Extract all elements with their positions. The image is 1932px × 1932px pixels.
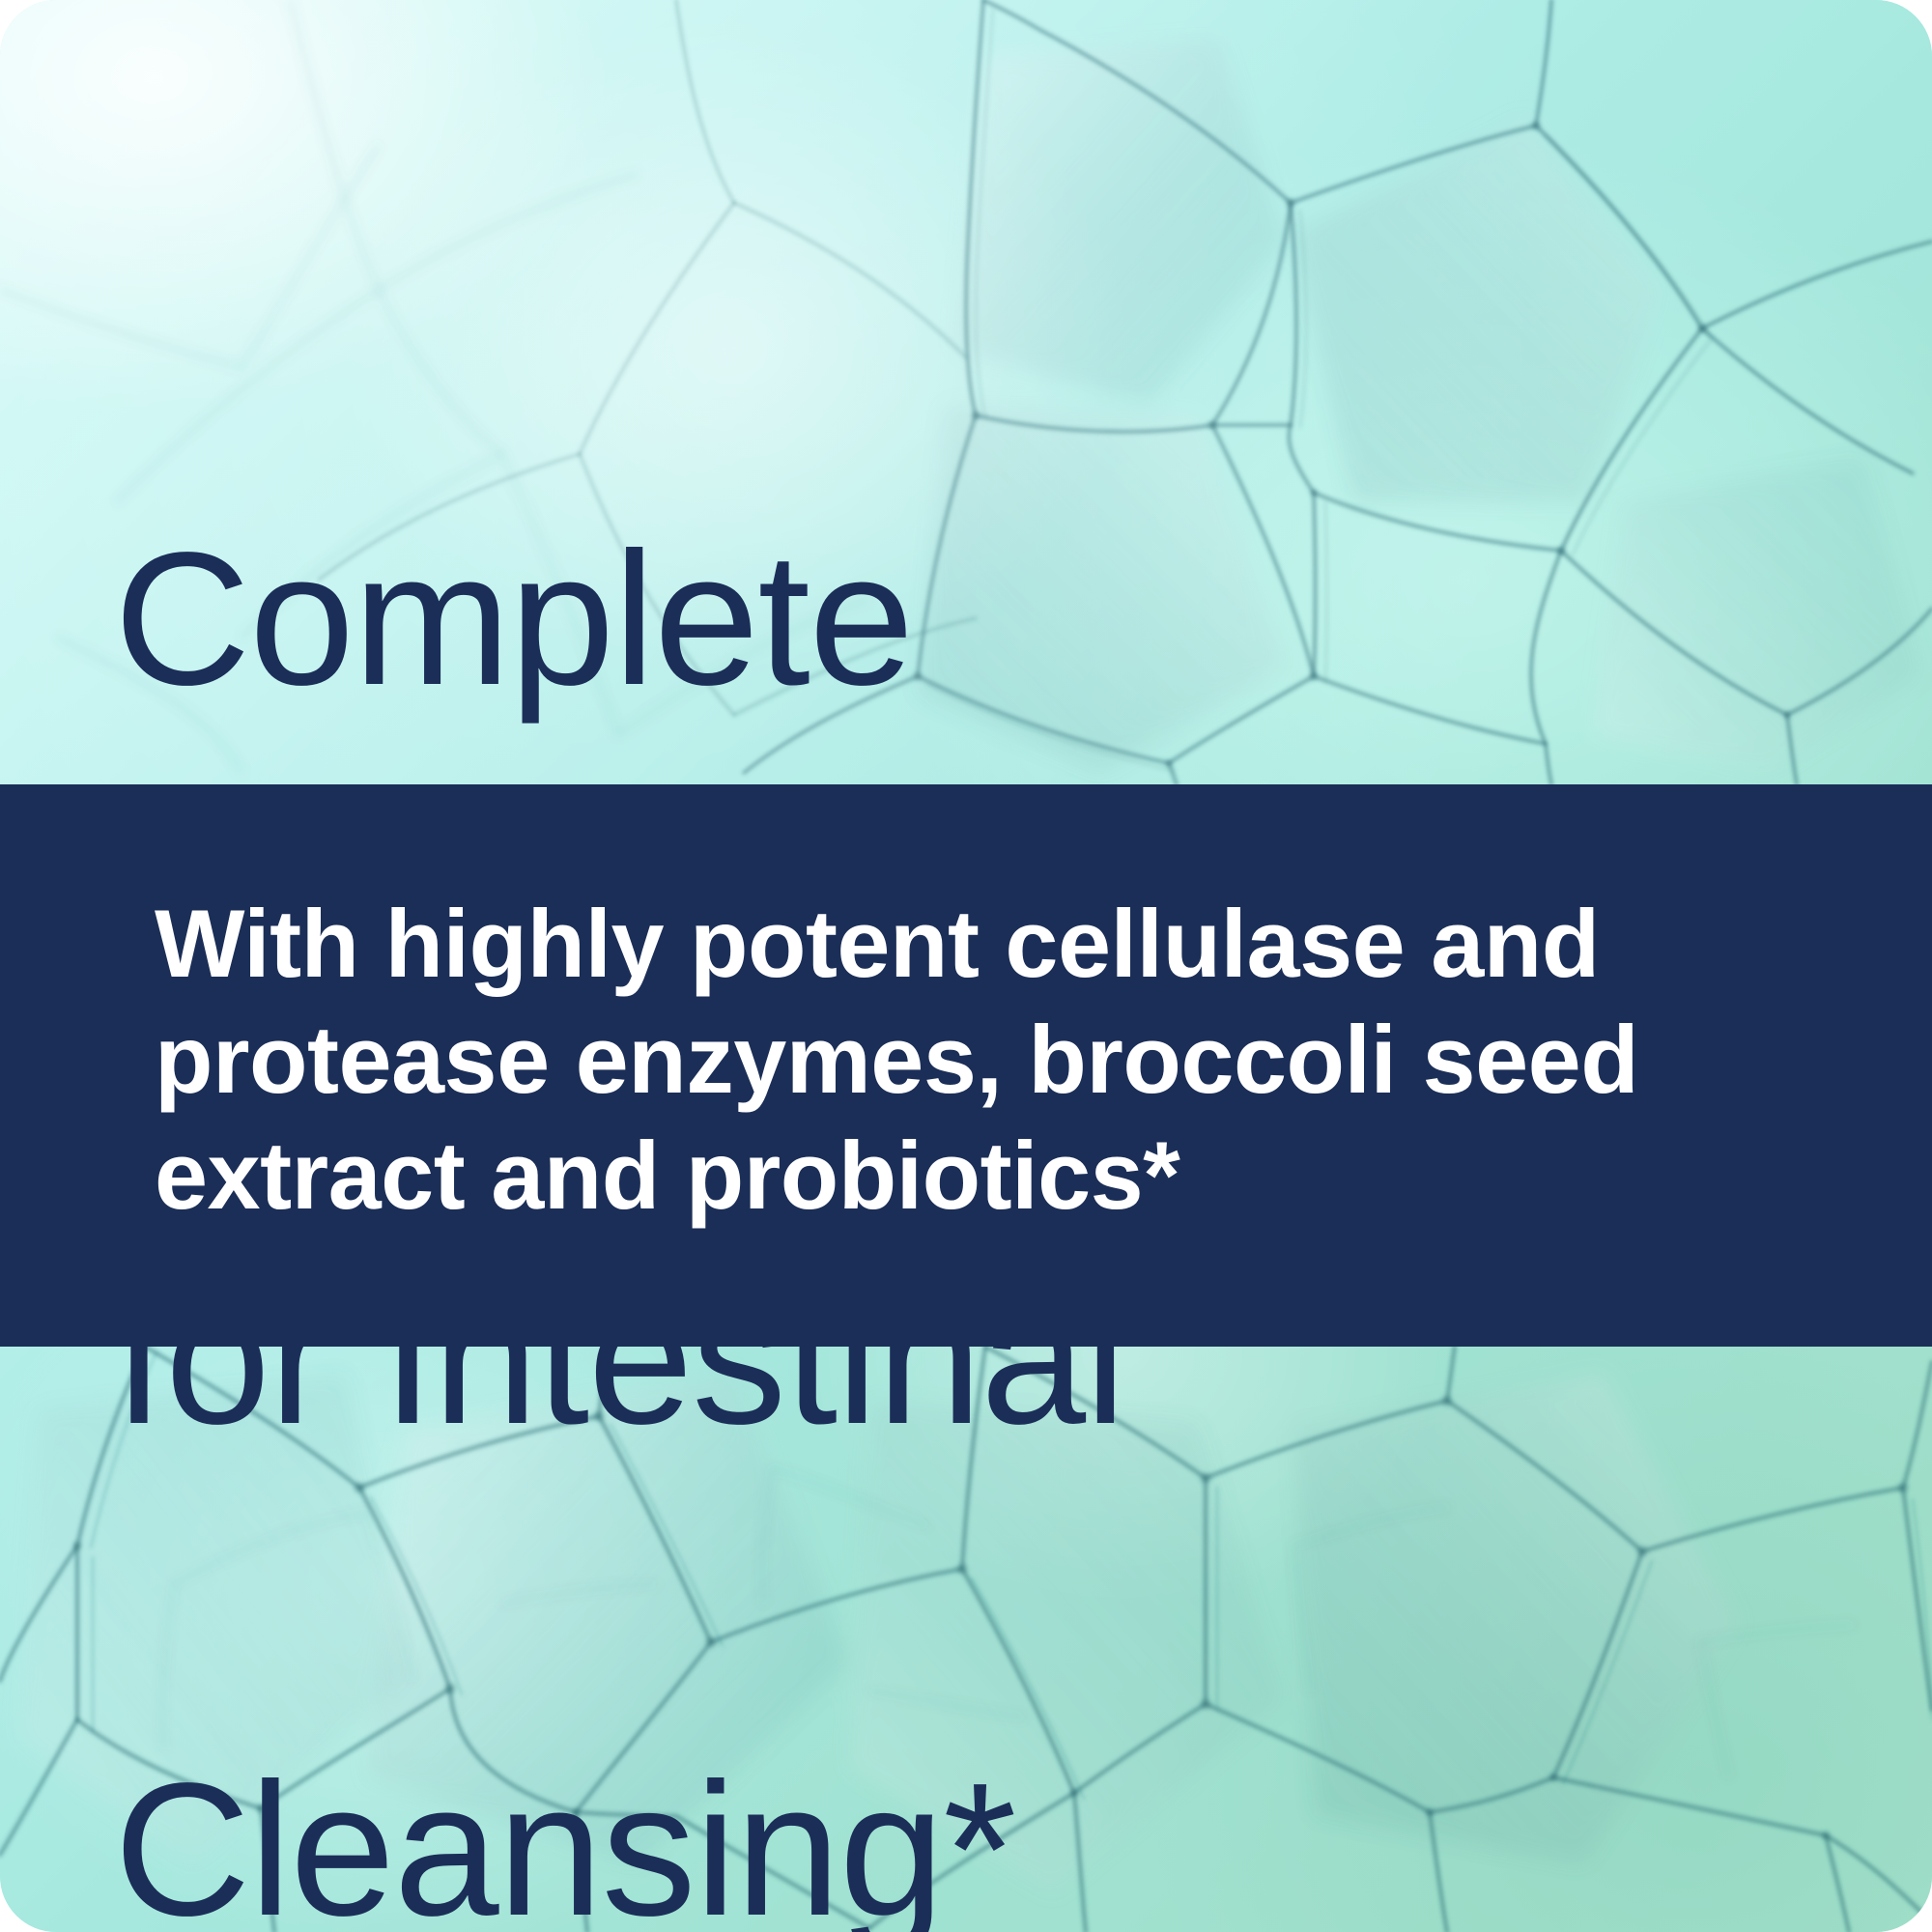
headline-line-3: Cleansing*: [114, 1727, 1563, 1932]
product-feature-card: Complete Protocol for Intestinal Cleansi…: [0, 0, 1932, 1932]
band-line-2: protease enzymes, broccoli seed: [155, 1002, 1835, 1118]
band-line-1: With highly potent cellulase and: [155, 886, 1835, 1002]
feature-callout-text: With highly potent cellulase and proteas…: [155, 886, 1835, 1233]
band-line-3: extract and probiotics*: [155, 1118, 1835, 1234]
feature-callout-band: With highly potent cellulase and proteas…: [0, 784, 1932, 1347]
